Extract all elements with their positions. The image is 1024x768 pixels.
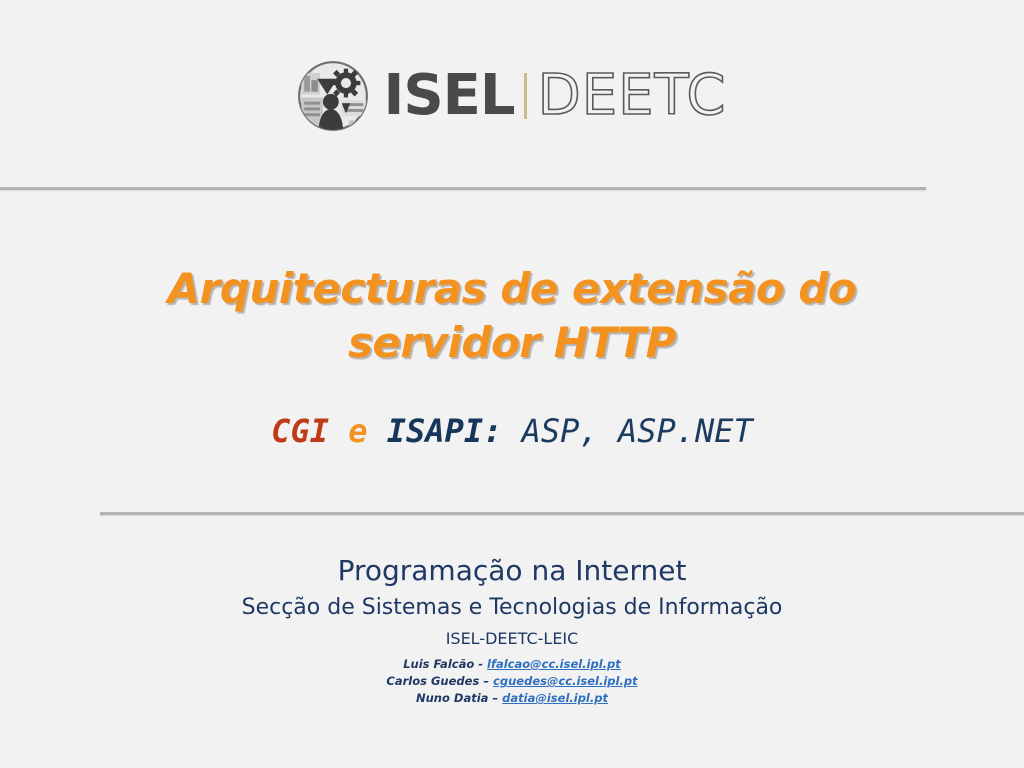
logo-isel-text: ISEL xyxy=(383,68,514,124)
author-email-link[interactable]: datia@isel.ipl.pt xyxy=(502,691,608,705)
subtitle-technologies: ASP, ASP.NET xyxy=(522,412,753,450)
divider-middle xyxy=(100,512,1024,515)
subtitle-isapi: ISAPI: xyxy=(387,412,503,450)
list-item: Nuno Datia – datia@isel.ipl.pt xyxy=(0,690,1024,707)
page-title: Arquitecturas de extensão do servidor HT… xyxy=(112,262,912,370)
list-item: Luis Falcão - lfalcao@cc.isel.ipl.pt xyxy=(0,656,1024,673)
author-name: Nuno Datia – xyxy=(416,691,502,705)
author-list: Luis Falcão - lfalcao@cc.isel.ipl.pt Car… xyxy=(0,656,1024,707)
logo-deetc-text: DEETC xyxy=(538,68,727,124)
divider-top xyxy=(0,187,926,190)
author-name: Luis Falcão - xyxy=(403,657,487,671)
school-code: ISEL-DEETC-LEIC xyxy=(0,628,1024,650)
slide-footer: Programação na Internet Secção de Sistem… xyxy=(0,552,1024,707)
author-email-link[interactable]: cguedes@cc.isel.ipl.pt xyxy=(493,674,638,688)
isel-emblem-icon xyxy=(297,60,369,132)
list-item: Carlos Guedes – cguedes@cc.isel.ipl.pt xyxy=(0,673,1024,690)
course-name: Programação na Internet xyxy=(0,552,1024,590)
author-email-link[interactable]: lfalcao@cc.isel.ipl.pt xyxy=(487,657,621,671)
subtitle-conjunction: e xyxy=(348,412,367,450)
presentation-title-slide: ISEL DEETC Arquitecturas de extensão do … xyxy=(0,0,1024,768)
department-section: Secção de Sistemas e Tecnologias de Info… xyxy=(0,593,1024,624)
isel-deetc-logo: ISEL DEETC xyxy=(0,54,1024,138)
subtitle-cgi: CGI xyxy=(271,412,329,450)
author-name: Carlos Guedes – xyxy=(386,674,493,688)
page-subtitle: CGI e ISAPI: ASP, ASP.NET xyxy=(62,412,962,450)
logo-divider-bar xyxy=(524,73,527,119)
